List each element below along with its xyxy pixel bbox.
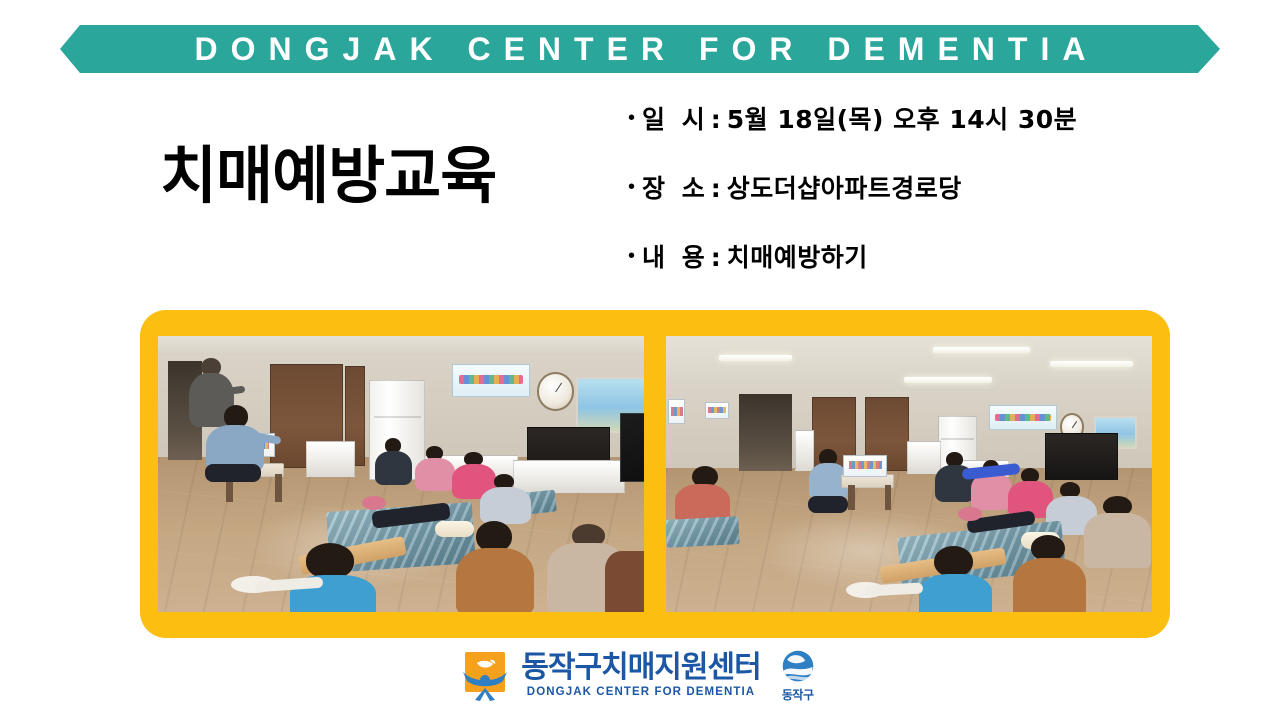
detail-row-date: • 일 시 : 5월 18일(목) 오후 14시 30분 <box>628 100 1188 136</box>
bullet-icon: • <box>628 246 635 266</box>
bullet-icon: • <box>628 108 635 128</box>
logo-english-name: DONGJAK CENTER FOR DEMENTIA <box>527 687 755 699</box>
detail-value-date: 5월 18일(목) 오후 14시 30분 <box>727 100 1077 136</box>
detail-value-place: 상도더샵아파트경로당 <box>727 169 962 205</box>
footer-logo: 동작구치매지원센터 DONGJAK CENTER FOR DEMENTIA 동작… <box>0 645 1280 707</box>
page-title: 치매예방교육 <box>160 145 496 207</box>
photo-1 <box>158 336 644 612</box>
photo-2 <box>666 336 1152 612</box>
detail-label-content: 내 용 <box>642 238 709 274</box>
detail-label-place: 장 소 <box>642 169 709 205</box>
detail-row-content: • 내 용 : 치매예방하기 <box>628 238 1188 274</box>
detail-row-place: • 장 소 : 상도더샵아파트경로당 <box>628 169 1188 205</box>
detail-separator: : <box>711 243 721 272</box>
detail-label-date: 일 시 <box>642 100 709 136</box>
photo-frame <box>140 310 1170 638</box>
bullet-icon: • <box>628 177 635 197</box>
dongjak-emblem: 동작구 <box>775 649 821 703</box>
detail-value-content: 치매예방하기 <box>727 238 868 274</box>
logo-korean-name: 동작구치매지원센터 <box>521 653 760 683</box>
dongjak-emblem-label: 동작구 <box>782 686 814 703</box>
detail-separator: : <box>711 105 721 134</box>
event-details-list: • 일 시 : 5월 18일(목) 오후 14시 30분 • 장 소 : 상도더… <box>628 100 1188 307</box>
header-banner-title: DONGJAK CENTER FOR DEMENTIA <box>60 25 1220 73</box>
logo-text-block: 동작구치매지원센터 DONGJAK CENTER FOR DEMENTIA <box>521 653 760 699</box>
header-banner: DONGJAK CENTER FOR DEMENTIA <box>60 25 1220 73</box>
detail-separator: : <box>711 174 721 203</box>
dongjak-emblem-icon <box>780 649 816 685</box>
logo-figure-icon <box>459 650 511 702</box>
